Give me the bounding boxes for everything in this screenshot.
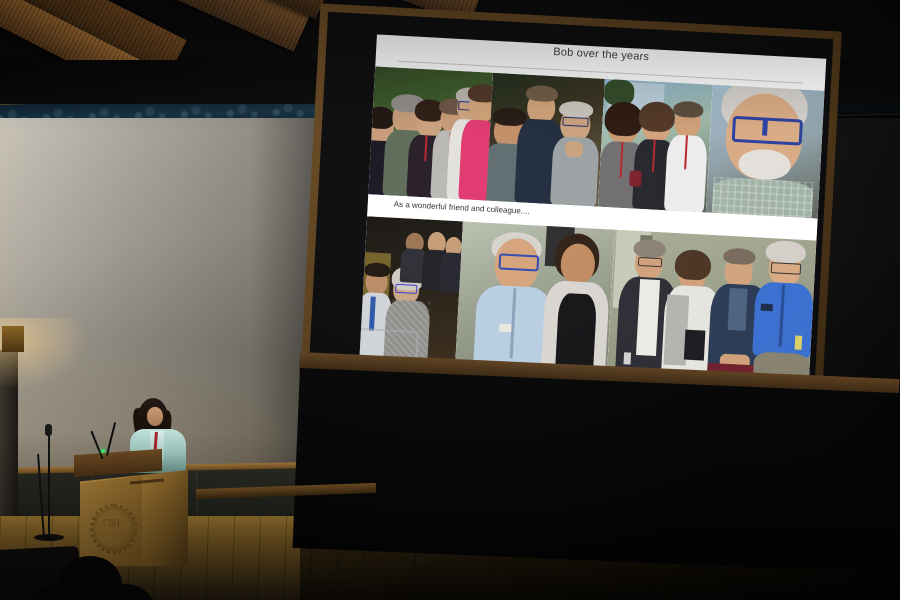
podium-desktop xyxy=(74,449,162,477)
speaker-face xyxy=(147,407,163,426)
podium: CSH xyxy=(74,452,192,564)
photo-evening-event xyxy=(359,216,463,369)
photo-group-outdoor-left xyxy=(368,66,493,200)
photo-three-men-laughing xyxy=(486,73,605,207)
photo-four-colleagues xyxy=(607,230,817,389)
photo-bob-and-colleague xyxy=(455,221,615,377)
mic-power-led-icon xyxy=(101,449,105,453)
photo-bob-closeup xyxy=(706,85,825,219)
podium-seal-text: CSH xyxy=(90,518,132,529)
podium-seal-icon xyxy=(90,504,138,554)
microphone-base xyxy=(34,534,64,541)
photo-conference-friends xyxy=(598,79,713,213)
lower-dark-wall xyxy=(292,368,900,574)
wall-sconce-light xyxy=(2,326,24,352)
microphone-stand xyxy=(48,430,50,538)
auditorium-scene: Bob over the years xyxy=(0,0,900,600)
photo-row-top xyxy=(368,66,824,218)
presentation-slide: Bob over the years xyxy=(359,34,826,388)
microphone-head-icon xyxy=(45,424,52,436)
